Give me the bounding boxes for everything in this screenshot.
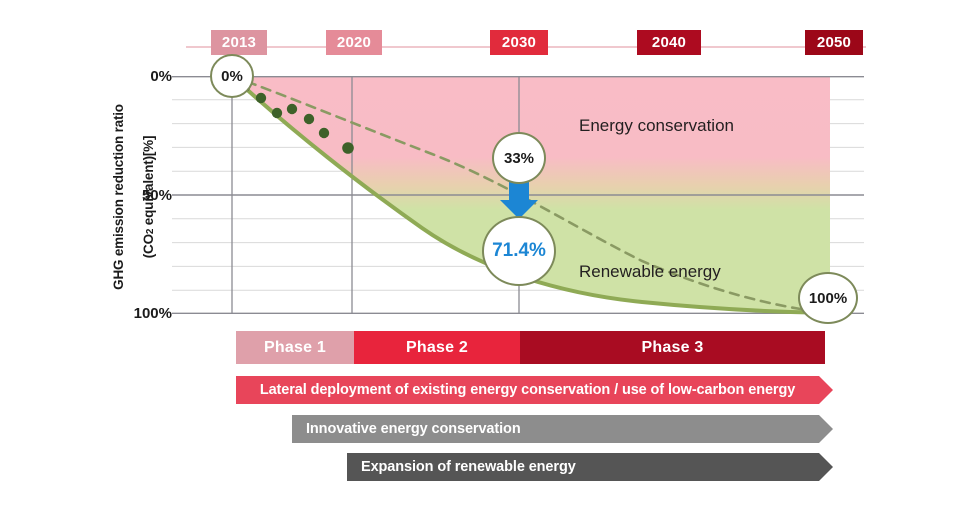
banner-lateral-deployment: Lateral deployment of existing energy co… xyxy=(236,376,833,404)
y-tick-100: 100% xyxy=(112,305,172,322)
y-axis-ticks: 0% 50% 100% xyxy=(108,0,172,518)
phase-bar-1: Phase 1 xyxy=(236,331,354,364)
banner-expansion-renewable: Expansion of renewable energy xyxy=(347,453,833,481)
callout-conservation-2030: 33% xyxy=(492,132,546,184)
phase-bar-3: Phase 3 xyxy=(520,331,825,364)
chart-plot-area: 0% 33% 71.4% 100% Energy conservation Re… xyxy=(172,76,864,314)
year-badge-2013: 2013 xyxy=(211,30,267,55)
callout-baseline-0: 0% xyxy=(210,54,254,98)
year-badge-2020: 2020 xyxy=(326,30,382,55)
year-badge-2050: 2050 xyxy=(805,30,863,55)
phase-bar-2: Phase 2 xyxy=(354,331,520,364)
banner-innovative-conservation: Innovative energy conservation xyxy=(292,415,833,443)
callout-total-2030: 71.4% xyxy=(482,216,556,286)
year-badge-2040: 2040 xyxy=(637,30,701,55)
label-energy-conservation: Energy conservation xyxy=(579,116,734,136)
callout-total-2050: 100% xyxy=(798,272,858,324)
year-badge-2030: 2030 xyxy=(490,30,548,55)
y-tick-0: 0% xyxy=(112,68,172,85)
y-tick-50: 50% xyxy=(112,187,172,204)
label-renewable-energy: Renewable energy xyxy=(579,262,721,282)
